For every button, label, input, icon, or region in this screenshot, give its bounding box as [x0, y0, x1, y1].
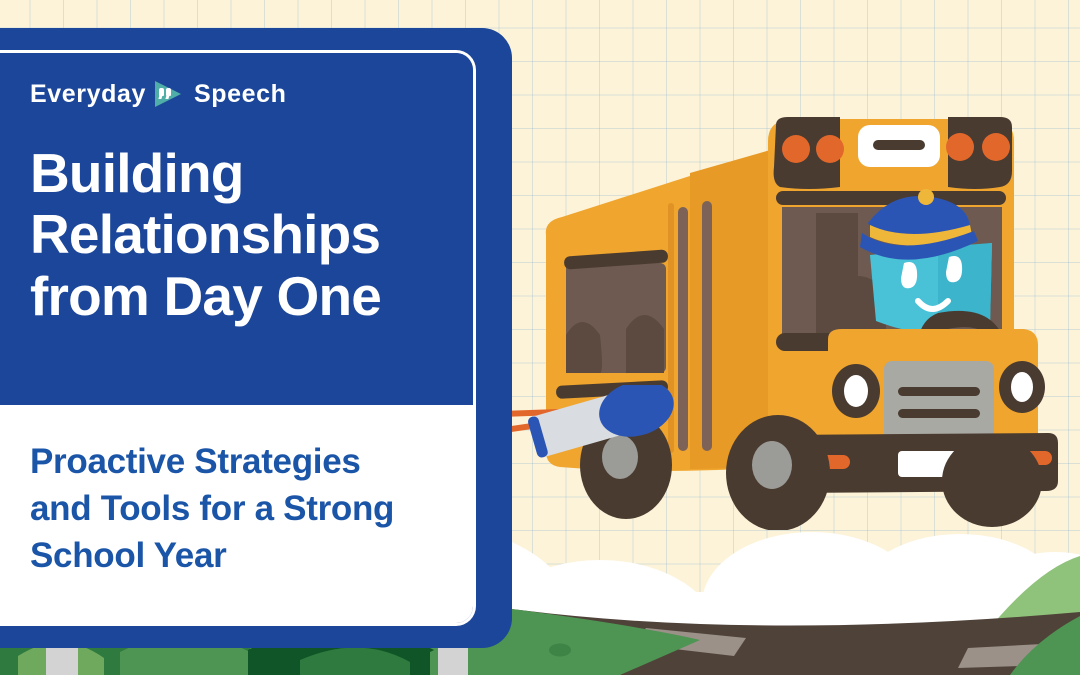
bus-destination-text-bar — [873, 140, 925, 150]
subhead-line-1: Proactive Strategies — [30, 439, 435, 486]
brand-logo[interactable]: Everyday Speech — [30, 79, 435, 109]
bus-side-window-seat2 — [626, 315, 664, 373]
page-subtitle: Proactive Strategies and Tools for a Str… — [30, 439, 435, 580]
headline-line-1: Building — [30, 143, 435, 204]
page-title: Building Relationships from Day One — [30, 143, 435, 327]
driver-eye-right — [946, 256, 962, 282]
sign-blue-panel: Everyday Speech Building Relationships f… — [0, 53, 473, 405]
headline-line-3: from Day One — [30, 266, 435, 327]
sign-white-panel: Proactive Strategies and Tools for a Str… — [0, 405, 473, 623]
subhead-line-3: School Year — [30, 533, 435, 580]
brand-name-first: Everyday — [30, 82, 146, 107]
bus-headlight-left — [832, 364, 880, 418]
headline-line-2: Relationships — [30, 204, 435, 265]
brand-name-second: Speech — [194, 82, 287, 107]
sign-board: Everyday Speech Building Relationships f… — [0, 28, 512, 648]
bus-door-seam-2 — [702, 201, 712, 451]
play-quote-icon — [155, 79, 185, 109]
bus-wheel-mid — [726, 415, 830, 530]
bus-wheel-front — [942, 435, 1042, 527]
bus-grille — [884, 361, 994, 445]
driver-eye-left — [901, 262, 917, 288]
driver-cap-button — [918, 189, 934, 205]
bus-headlight-right — [999, 361, 1045, 413]
slide-canvas: Everyday Speech Building Relationships f… — [0, 0, 1080, 675]
sign-post-right — [438, 646, 468, 675]
subhead-line-2: and Tools for a Strong — [30, 486, 435, 533]
sign-inner-frame: Everyday Speech Building Relationships f… — [0, 50, 476, 626]
